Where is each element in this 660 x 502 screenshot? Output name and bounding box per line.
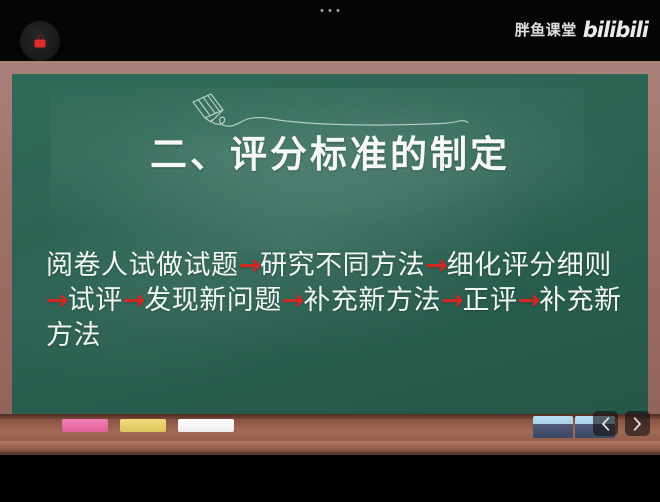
flow-arrow: → — [46, 285, 68, 316]
lock-icon — [35, 35, 46, 48]
bottom-letterbox — [0, 455, 660, 502]
flow-arrow: → — [518, 285, 540, 316]
flow-step: 正评 — [463, 285, 518, 316]
flow-step: 补充新方法 — [303, 285, 441, 316]
previous-slide-button[interactable] — [593, 411, 618, 436]
chalk-white — [178, 419, 234, 432]
blackboard-frame: 二、评分标准的制定 阅卷人试做试题→研究不同方法→细化评分细则→试评→发现新问题… — [0, 61, 660, 455]
flow-step: 细化评分细则 — [447, 250, 612, 281]
flow-arrow: → — [425, 250, 447, 281]
chalk-pink — [62, 419, 108, 432]
watermark: 胖鱼课堂 bilibili — [515, 20, 648, 41]
dot-2 — [329, 9, 332, 12]
slide-body-text: 阅卷人试做试题→研究不同方法→细化评分细则→试评→发现新问题→补充新方法→正评→… — [46, 248, 622, 353]
video-player-stage: 胖鱼课堂 bilibili 二、评分标准的制定 阅卷人试做试题→研究不同方法→细… — [0, 0, 660, 502]
pencil-doodle-icon — [187, 92, 477, 134]
dot-1 — [321, 9, 324, 12]
chevron-right-icon — [633, 417, 642, 431]
chevron-left-icon — [601, 417, 610, 431]
flow-arrow: → — [239, 250, 261, 281]
flow-step: 试评 — [68, 285, 123, 316]
flow-step: 发现新问题 — [144, 285, 282, 316]
eraser-1 — [533, 416, 573, 438]
blackboard-surface: 二、评分标准的制定 阅卷人试做试题→研究不同方法→细化评分细则→试评→发现新问题… — [12, 74, 648, 427]
dot-3 — [337, 9, 340, 12]
flow-arrow: → — [441, 285, 463, 316]
bilibili-logo: bilibili — [583, 20, 648, 41]
flow-step: 研究不同方法 — [260, 250, 425, 281]
flow-step: 阅卷人试做试题 — [46, 250, 239, 281]
lock-body — [35, 40, 46, 48]
watermark-channel-name: 胖鱼课堂 — [515, 23, 577, 38]
avatar[interactable] — [20, 21, 60, 61]
chalk-yellow — [120, 419, 166, 432]
top-bar: 胖鱼课堂 bilibili — [0, 0, 660, 62]
page-title: 二、评分标准的制定 — [12, 134, 648, 177]
flow-arrow: → — [282, 285, 304, 316]
next-slide-button[interactable] — [625, 411, 650, 436]
chalk-ledge — [0, 414, 660, 455]
more-options-icon[interactable] — [321, 9, 340, 12]
ledge-front-edge — [0, 441, 660, 455]
flow-arrow: → — [123, 285, 145, 316]
